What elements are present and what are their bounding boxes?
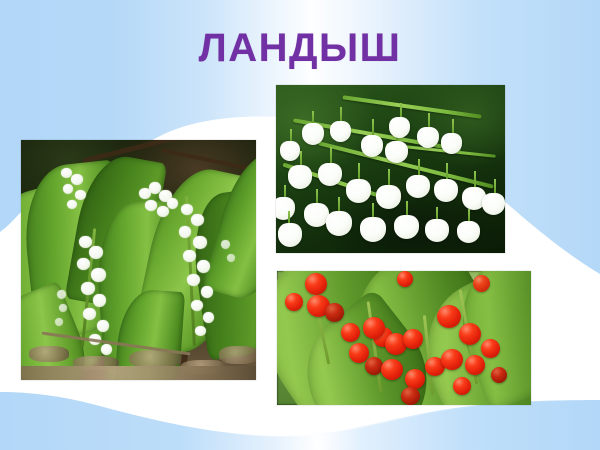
photo-lily-berries[interactable] xyxy=(277,271,531,405)
photo-lily-plants[interactable] xyxy=(21,140,256,380)
page-title: ЛАНДЫШ xyxy=(0,26,600,70)
photo-lily-plants-content xyxy=(21,140,256,380)
presentation-slide: ЛАНДЫШ xyxy=(0,0,600,450)
photo-lily-berries-content xyxy=(277,271,531,405)
photo-lily-flowers-closeup[interactable] xyxy=(276,85,505,253)
photo-lily-flowers-closeup-content xyxy=(276,85,505,253)
